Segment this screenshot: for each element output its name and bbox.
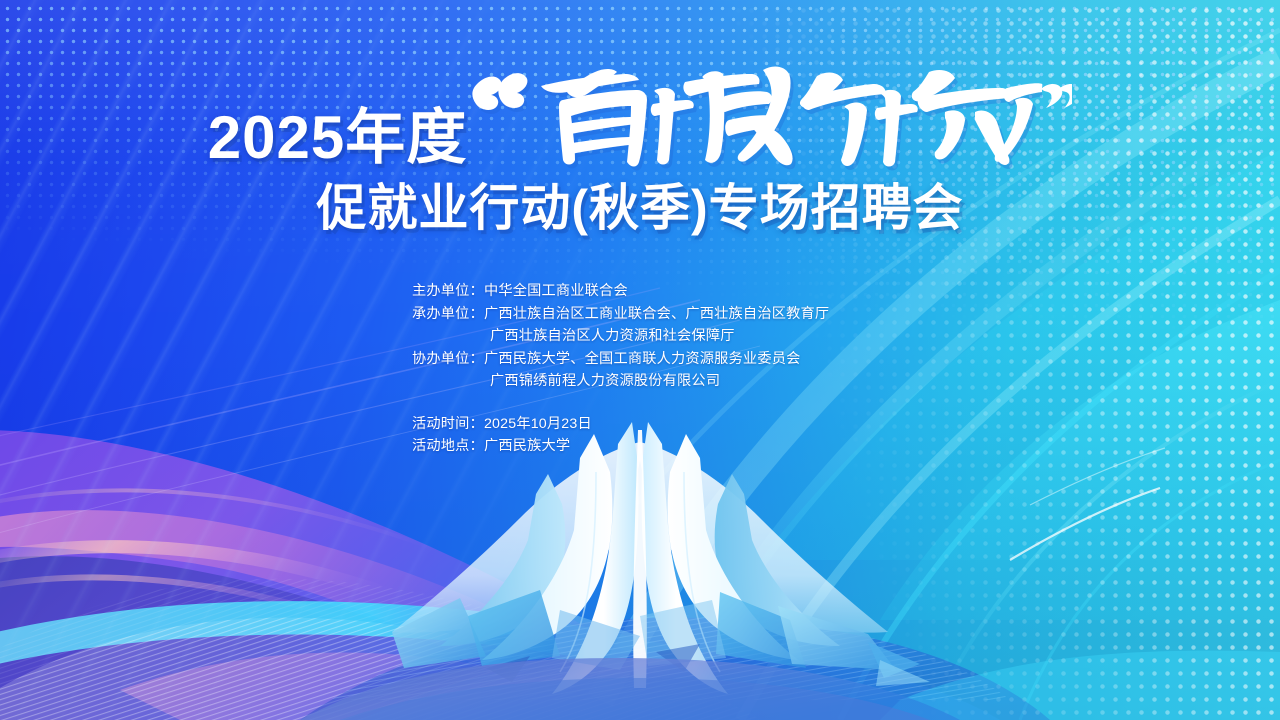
organizer-row: 广西锦绣前程人力资源股份有限公司 [412, 370, 932, 393]
organizer-value: 广西锦绣前程人力资源股份有限公司 [490, 370, 720, 393]
title-line-1: 2025年度 百城千校万企 [0, 78, 1280, 174]
organizer-label: 承办单位： [412, 303, 484, 326]
title-line-2: 促就业行动(秋季)专场招聘会 [0, 180, 1280, 236]
poster-canvas: 2025年度 百城千校万企 [0, 0, 1280, 720]
organizer-rows: 主办单位：中华全国工商业联合会承办单位：广西壮族自治区工商业联合会、广西壮族自治… [412, 280, 932, 393]
poster-title: 2025年度 百城千校万企 [0, 78, 1280, 236]
organizer-info-block: 主办单位：中华全国工商业联合会承办单位：广西壮族自治区工商业联合会、广西壮族自治… [412, 280, 932, 458]
title-slogan-calligraphy: 百城千校万企 [467, 62, 1042, 174]
info-spacer [412, 393, 932, 413]
event-time-value: 2025年10月23日 [484, 413, 592, 436]
event-time-label: 活动时间： [412, 413, 484, 436]
organizer-label: 主办单位： [412, 280, 484, 303]
organizer-row: 协办单位：广西民族大学、全国工商联人力资源服务业委员会 [412, 348, 932, 371]
title-quote-close-icon [1038, 82, 1072, 130]
event-place-label: 活动地点： [412, 435, 484, 458]
organizer-value: 中华全国工商业联合会 [484, 280, 628, 303]
organizer-value: 广西壮族自治区工商业联合会、广西壮族自治区教育厅 [484, 303, 829, 326]
event-place-row: 活动地点： 广西民族大学 [412, 435, 932, 458]
organizer-label: 协办单位： [412, 348, 484, 371]
guangxi-minzu-university-landmark [0, 420, 1280, 720]
organizer-row: 承办单位：广西壮族自治区工商业联合会、广西壮族自治区教育厅 [412, 303, 932, 326]
organizer-row: 广西壮族自治区人力资源和社会保障厅 [412, 325, 932, 348]
organizer-row: 主办单位：中华全国工商业联合会 [412, 280, 932, 303]
event-place-value: 广西民族大学 [484, 435, 570, 458]
organizer-value: 广西壮族自治区人力资源和社会保障厅 [490, 325, 735, 348]
title-year: 2025年度 [208, 108, 467, 168]
organizer-value: 广西民族大学、全国工商联人力资源服务业委员会 [484, 348, 801, 371]
event-time-row: 活动时间： 2025年10月23日 [412, 413, 932, 436]
